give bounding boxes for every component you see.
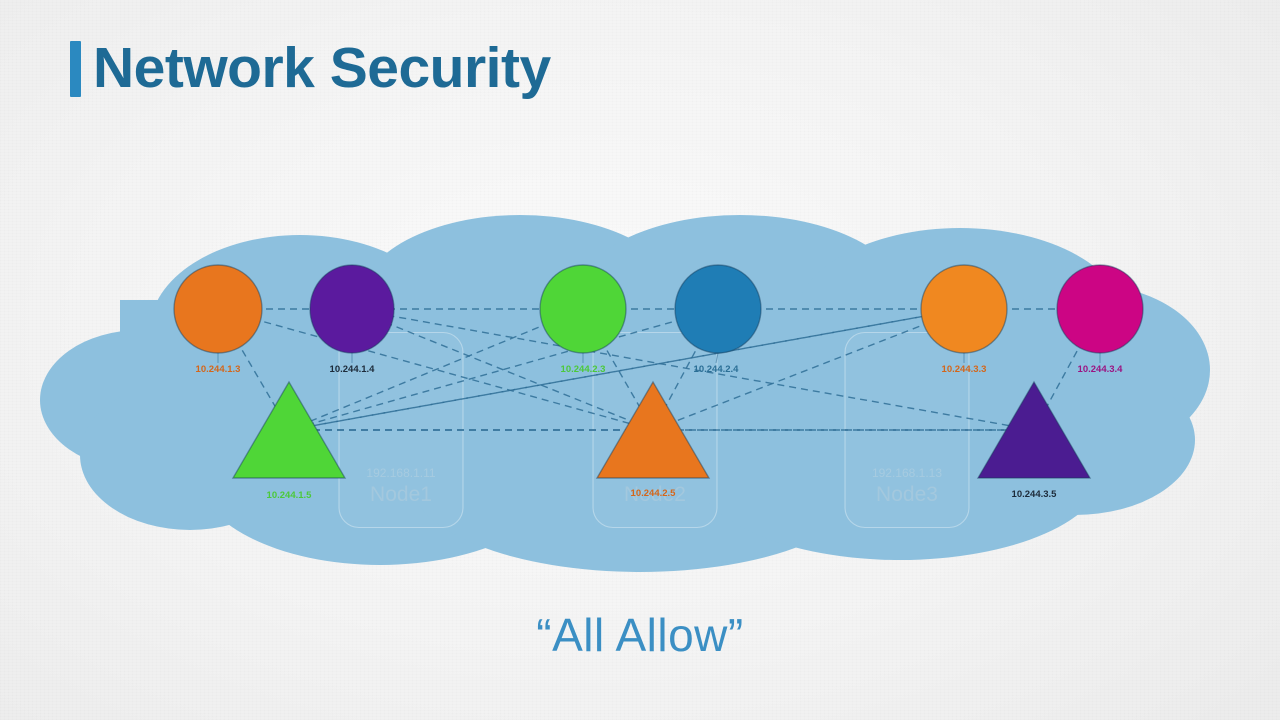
slide-canvas: Network Security 192.168.1.11Node1192.16… [0, 0, 1280, 720]
pod-ip-label: 10.244.2.3 [561, 364, 606, 375]
pod-ip-label: 10.244.1.4 [330, 364, 376, 375]
pod-ip-label: 10.244.3.5 [1012, 489, 1058, 500]
pod-ip-label: 10.244.2.5 [631, 488, 677, 499]
network-diagram: 192.168.1.11Node1192.168.1.12Node2192.16… [0, 0, 1280, 720]
pod-ip-label: 10.244.3.4 [1078, 364, 1124, 375]
pod-ip-label: 10.244.1.3 [196, 364, 241, 375]
pod-ip-label: 10.244.2.4 [694, 364, 740, 375]
pod-ip-label: 10.244.1.5 [267, 490, 313, 501]
pod-ip-label: 10.244.3.3 [942, 364, 987, 375]
labels-layer: 10.244.1.310.244.1.410.244.2.310.244.2.4… [0, 0, 1280, 720]
